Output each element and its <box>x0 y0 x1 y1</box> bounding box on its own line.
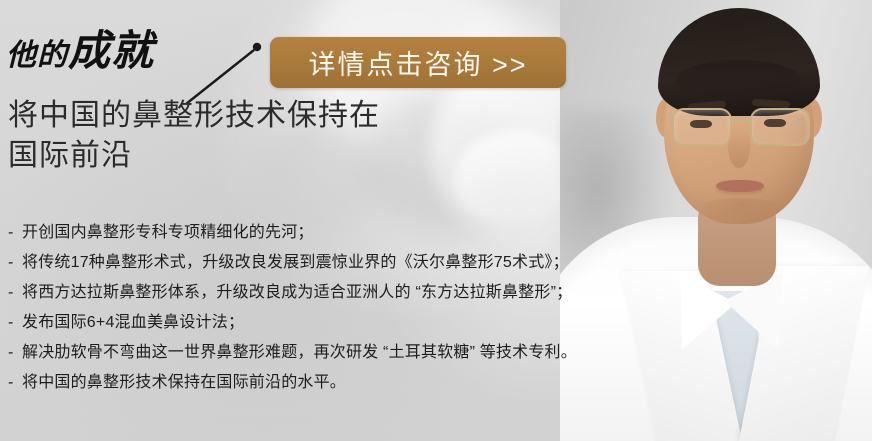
background-surgical-mask-image <box>455 130 575 225</box>
list-item-text: 开创国内鼻整形专科专项精细化的先河； <box>22 218 314 248</box>
bullet-dash: - <box>8 218 22 248</box>
list-item: - 发布国际6+4混血美鼻设计法； <box>8 308 608 338</box>
bullet-dash: - <box>8 308 22 338</box>
subheadline-line-1: 将中国的鼻整形技术保持在 <box>8 96 380 136</box>
list-item-text: 将西方达拉斯鼻整形体系，升级改良成为适合亚洲人的 “东方达拉斯鼻整形”； <box>22 278 572 308</box>
list-item: - 将中国的鼻整形技术保持在国际前沿的水平。 <box>8 368 608 398</box>
consult-cta-label: 详情点击咨询 >> <box>308 43 527 82</box>
list-item: - 将西方达拉斯鼻整形体系，升级改良成为适合亚洲人的 “东方达拉斯鼻整形”； <box>8 278 608 308</box>
consult-cta-button[interactable]: 详情点击咨询 >> <box>270 37 566 88</box>
headline-prefix: 他的 <box>6 38 68 73</box>
bullet-dash: - <box>8 248 22 278</box>
headline-text: 他的成就 <box>6 24 286 83</box>
list-item-text: 解决肋软骨不弯曲这一世界鼻整形难题，再次研发 “土耳其软糖” 等技术专利。 <box>22 338 577 368</box>
bullet-dash: - <box>8 338 22 368</box>
bullet-dash: - <box>8 278 22 308</box>
list-item-text: 发布国际6+4混血美鼻设计法； <box>22 308 244 338</box>
list-item-text: 将中国的鼻整形技术保持在国际前沿的水平。 <box>22 368 346 398</box>
subheadline-line-2: 国际前沿 <box>8 136 380 176</box>
list-item: - 将传统17种鼻整形术式，升级改良发展到震惊业界的《沃尔鼻整形75术式》； <box>8 248 608 278</box>
list-item: - 解决肋软骨不弯曲这一世界鼻整形难题，再次研发 “土耳其软糖” 等技术专利。 <box>8 338 608 368</box>
chin-shadow <box>694 198 786 226</box>
list-item: - 开创国内鼻整形专科专项精细化的先河； <box>8 218 608 248</box>
bullet-dash: - <box>8 368 22 398</box>
list-item-text: 将传统17种鼻整形术式，升级改良发展到震惊业界的《沃尔鼻整形75术式》； <box>22 248 569 278</box>
headline-emphasis: 成就 <box>68 26 154 75</box>
promo-banner: 男医生，戴金边眼镜，身穿白大褂 他的成就 将中国的鼻整形技术保持在 国际前沿 详… <box>0 0 872 441</box>
eyeglass-bridge <box>732 120 752 123</box>
achievements-list: - 开创国内鼻整形专科专项精细化的先河； - 将传统17种鼻整形术式，升级改良发… <box>8 218 608 398</box>
nose <box>728 126 750 168</box>
eyeglass-lens-right <box>750 108 810 146</box>
mouth <box>716 180 764 192</box>
subheadline: 将中国的鼻整形技术保持在 国际前沿 <box>8 96 380 176</box>
eyeglass-lens-left <box>672 108 732 146</box>
